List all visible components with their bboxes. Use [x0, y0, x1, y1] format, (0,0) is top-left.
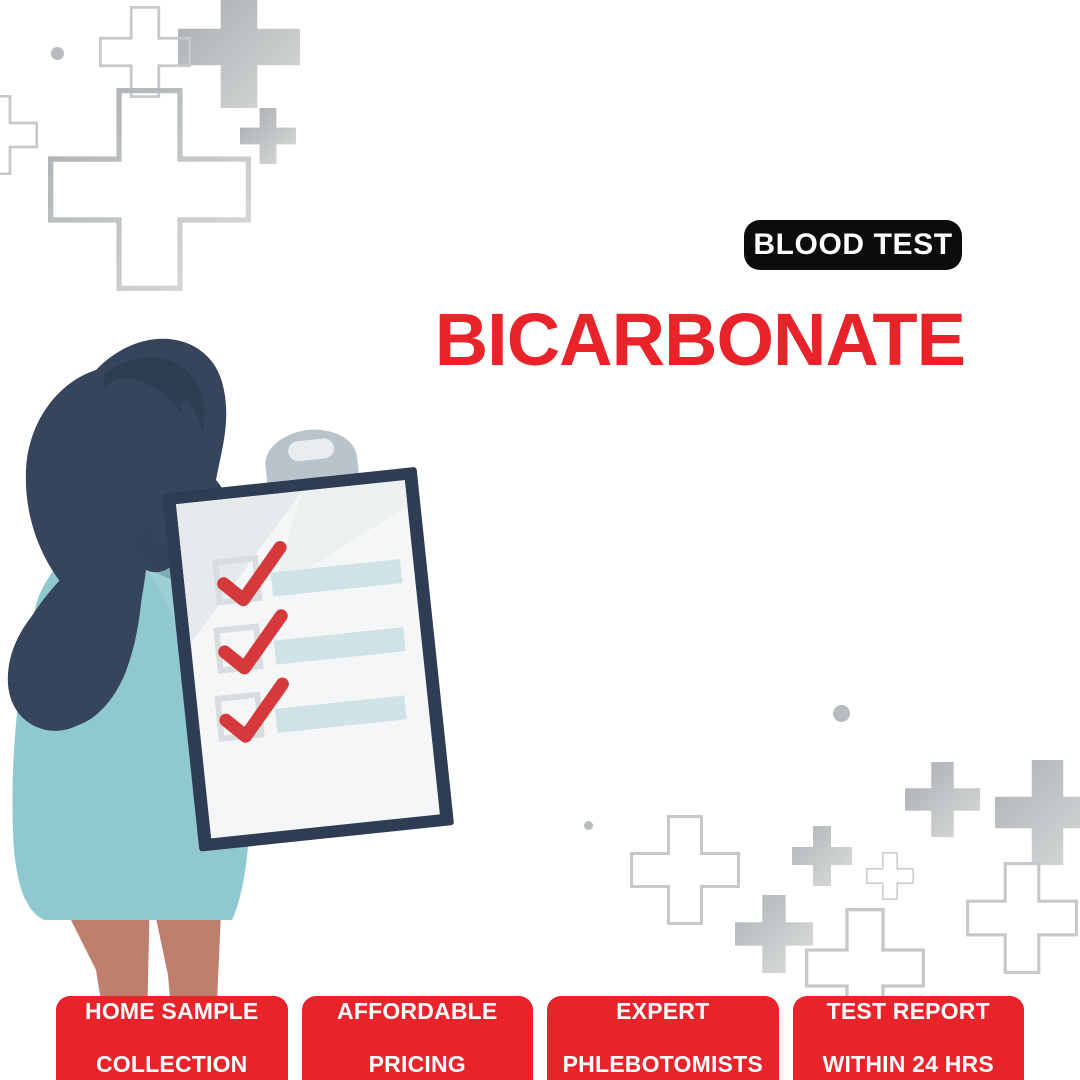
feature-banner-row: HOME SAMPLE COLLECTION AFFORDABLE PRICIN…	[0, 996, 1080, 1080]
category-badge: BLOOD TEST	[744, 220, 962, 270]
feature-line-2: PRICING	[337, 1051, 497, 1078]
feature-home-sample-collection[interactable]: HOME SAMPLE COLLECTION	[56, 996, 288, 1080]
medical-cross-icon	[99, 6, 191, 98]
feature-expert-phlebotomists[interactable]: EXPERT PHLEBOTOMISTS	[547, 996, 779, 1080]
medical-cross-icon	[240, 108, 296, 164]
feature-line-2: COLLECTION	[85, 1051, 258, 1078]
feature-affordable-pricing[interactable]: AFFORDABLE PRICING	[302, 996, 534, 1080]
hero-illustration	[0, 330, 600, 1080]
poster-canvas: BLOOD TEST BICARBONATE	[0, 0, 1080, 1080]
medical-cross-icon	[48, 88, 251, 291]
medical-cross-icon	[866, 852, 914, 900]
medical-cross-icon	[735, 895, 813, 973]
medical-cross-icon	[792, 826, 852, 886]
medical-cross-icon	[995, 760, 1080, 865]
feature-label: EXPERT PHLEBOTOMISTS	[563, 998, 763, 1078]
medical-cross-icon	[966, 862, 1078, 974]
feature-line-1: EXPERT	[563, 998, 763, 1025]
feature-line-1: TEST REPORT	[823, 998, 994, 1025]
feature-label: AFFORDABLE PRICING	[337, 998, 497, 1078]
feature-label: HOME SAMPLE COLLECTION	[85, 998, 258, 1078]
feature-line-1: HOME SAMPLE	[85, 998, 258, 1025]
feature-line-2: WITHIN 24 HRS	[823, 1051, 994, 1078]
medical-cross-icon	[630, 815, 740, 925]
category-badge-label: BLOOD TEST	[753, 228, 952, 262]
feature-line-2: PHLEBOTOMISTS	[563, 1051, 763, 1078]
feature-line-1: AFFORDABLE	[337, 998, 497, 1025]
medical-cross-icon	[0, 95, 38, 175]
feature-label: TEST REPORT WITHIN 24 HRS	[823, 998, 994, 1078]
decorative-dot	[833, 705, 850, 722]
feature-test-report-24hrs[interactable]: TEST REPORT WITHIN 24 HRS	[793, 996, 1025, 1080]
medical-cross-icon	[905, 762, 980, 837]
decorative-dot	[51, 47, 64, 60]
